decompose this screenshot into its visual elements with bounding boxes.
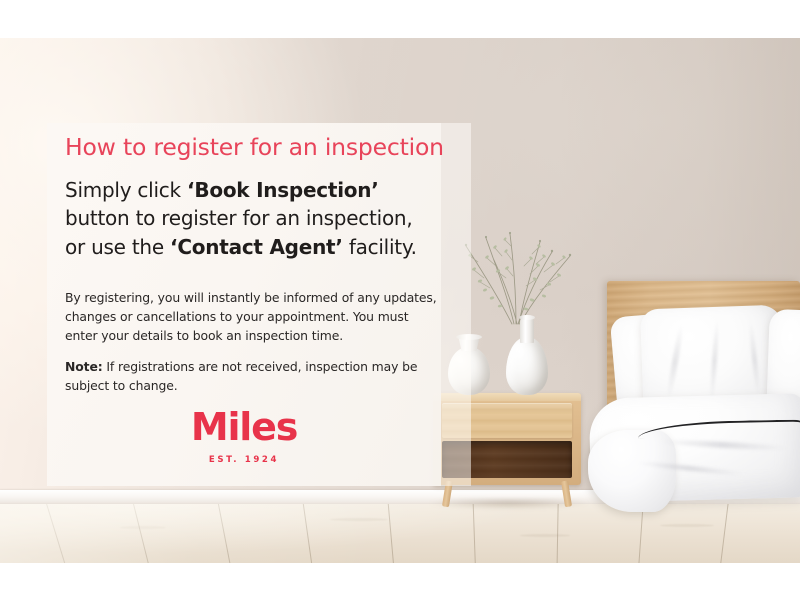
lead-line1-pre: Simply click [65,178,187,202]
floor-plank-seam [636,504,645,563]
floor-plank-seam [386,504,397,563]
image-canvas: How to register for an inspection Simply… [0,0,800,600]
logo-established-text: EST. 1924 [47,455,441,465]
page-title: How to register for an inspection [65,135,435,161]
lead-line3-post: facility. [343,235,417,259]
letterbox-top [0,0,800,38]
note-text: If registrations are not received, inspe… [65,359,417,393]
vase-body [506,337,548,395]
floor-light-sheen [0,504,800,563]
bedroom-scene: How to register for an inspection Simply… [0,38,800,563]
letterbox-bottom [0,563,800,600]
lead-line1-post: button [65,206,129,230]
floor-grain [660,524,714,527]
floor-grain [120,526,166,529]
floor-plank-seam [214,504,236,563]
book-inspection-label: ‘Book Inspection’ [187,178,379,202]
floor-plank-seam [472,504,477,563]
contact-agent-label: ‘Contact Agent’ [170,235,343,259]
wood-floor [0,504,800,563]
floor-plank-seam [300,504,316,563]
vase-neck [520,317,534,343]
lead-paragraph: Simply click ‘Book Inspection’ button to… [65,176,437,261]
vase-rim [519,315,535,320]
logo-wordmark: Miles [47,408,441,446]
floor-plank-seam [717,504,731,563]
brand-logo: Miles EST. 1924 [47,408,441,465]
floor-plank-seam [40,504,73,563]
note-label: Note: [65,359,103,374]
floor-plank-seam [128,504,156,563]
floor-grain [520,534,570,537]
text-panel: How to register for an inspection Simply… [47,123,441,486]
tall-ceramic-bottle-vase [506,315,548,395]
body-paragraph-registering: By registering, you will instantly be in… [65,289,439,346]
floor-grain [330,518,388,521]
body-paragraph-note: Note: If registrations are not received,… [65,358,439,396]
